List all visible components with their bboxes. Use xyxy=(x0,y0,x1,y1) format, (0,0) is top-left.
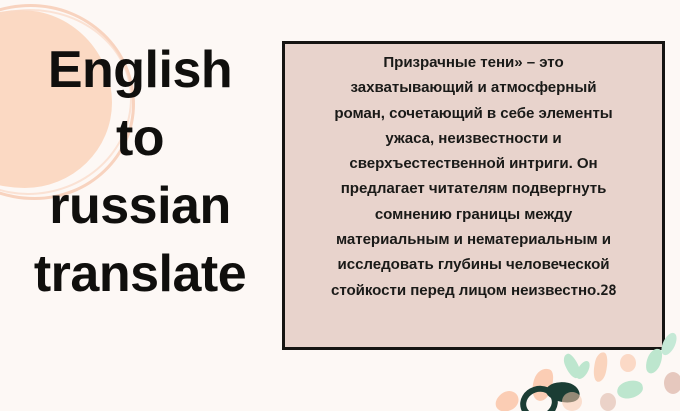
peach-blob-decoration-3 xyxy=(620,354,636,372)
page-title-line-3: russian xyxy=(0,172,280,240)
page-title-line-1: English xyxy=(0,36,280,104)
paragraph-line-10-text: стойкости перед лицом неизвестно. xyxy=(331,282,600,299)
page-title: English to russian translate xyxy=(0,36,280,308)
paragraph-line-8: материальным и нематериальным и xyxy=(289,227,658,252)
rose-blob-decoration-2 xyxy=(600,393,616,411)
peach-blob-decoration-2 xyxy=(591,351,611,383)
mint-blob-decoration-2 xyxy=(574,359,593,381)
poster-canvas: English to russian translate Призрачные … xyxy=(0,0,680,411)
teal-ring-decoration xyxy=(516,381,563,411)
translated-text-panel: Призрачные тени» – это захватывающий и а… xyxy=(282,41,665,350)
paragraph-line-6: предлагает читателям подвергнуть xyxy=(289,176,658,201)
paragraph-line-2: захватывающий и атмосферный xyxy=(289,75,658,100)
translated-paragraph: Призрачные тени» – это захватывающий и а… xyxy=(285,46,662,304)
paragraph-line-7: сомнению границы между xyxy=(289,202,658,227)
rose-blob-decoration-1 xyxy=(664,372,680,394)
paragraph-line-3: роман, сочетающий в себе элементы xyxy=(289,101,658,126)
paragraph-line-4: ужаса, неизвестности и xyxy=(289,126,658,151)
paragraph-line-9: исследовать глубины человеческой xyxy=(289,252,658,277)
paragraph-line-1: Призрачные тени» – это xyxy=(289,50,658,75)
teal-drop-decoration xyxy=(544,379,581,406)
mint-blob-decoration-4 xyxy=(616,378,645,400)
peach-blob-decoration-5 xyxy=(562,392,582,411)
peach-blob-decoration-1 xyxy=(528,366,556,403)
paragraph-line-10: стойкости перед лицом неизвестно.28 xyxy=(289,278,658,304)
paragraph-line-5: сверхъестественной интриги. Он xyxy=(289,151,658,176)
peach-blob-decoration-4 xyxy=(492,387,522,411)
page-title-line-4: translate xyxy=(0,240,280,308)
mint-blob-decoration-3 xyxy=(643,346,666,375)
page-title-line-2: to xyxy=(0,104,280,172)
paragraph-trailing-number: 28 xyxy=(600,283,616,299)
mint-blob-decoration-1 xyxy=(561,352,583,381)
